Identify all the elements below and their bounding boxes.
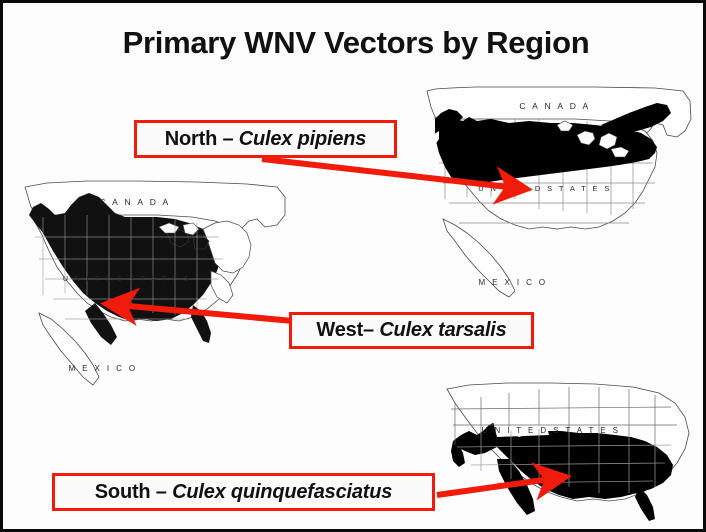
map-north-canada-label: C A N A D A <box>519 101 590 111</box>
callout-west-text: West– Culex tarsalis <box>316 319 506 342</box>
callout-north-text: North – Culex pipiens <box>165 128 366 151</box>
callout-north[interactable]: North – Culex pipiens <box>134 120 397 158</box>
map-south-us-label: U N I T E D S T A T E S <box>482 426 621 435</box>
slide-canvas: Primary WNV Vectors by Region <box>0 0 706 532</box>
map-west-canada-label: C A N A D A <box>99 197 170 207</box>
map-north-us-label: U N I T E D S T A T E S <box>478 184 612 193</box>
callout-north-region: North – <box>165 128 239 150</box>
map-west-culex-tarsalis: C A N A D A U N I T E D S T A T E S M E … <box>7 171 299 395</box>
map-west-mexico-label: M E X I C O <box>68 364 137 373</box>
callout-south-region: South – <box>95 481 172 503</box>
map-north-mexico-label: M E X I C O <box>478 278 547 287</box>
map-west-us-label: U N I T E D S T A T E S <box>63 276 191 283</box>
map-south-culex-quinquefasciatus: U N I T E D S T A T E S <box>427 375 705 527</box>
callout-south-species: Culex quinquefasciatus <box>172 481 392 503</box>
callout-south-text: South – Culex quinquefasciatus <box>95 481 392 504</box>
callout-south[interactable]: South – Culex quinquefasciatus <box>52 473 435 511</box>
callout-west-region: West– <box>316 319 379 341</box>
callout-west-species: Culex tarsalis <box>379 319 506 341</box>
callout-west[interactable]: West– Culex tarsalis <box>289 312 534 349</box>
page-title: Primary WNV Vectors by Region <box>3 25 706 61</box>
map-north-culex-pipiens: C A N A D A U N I T E D S T A T E S M E … <box>405 79 705 309</box>
callout-north-species: Culex pipiens <box>239 128 366 150</box>
